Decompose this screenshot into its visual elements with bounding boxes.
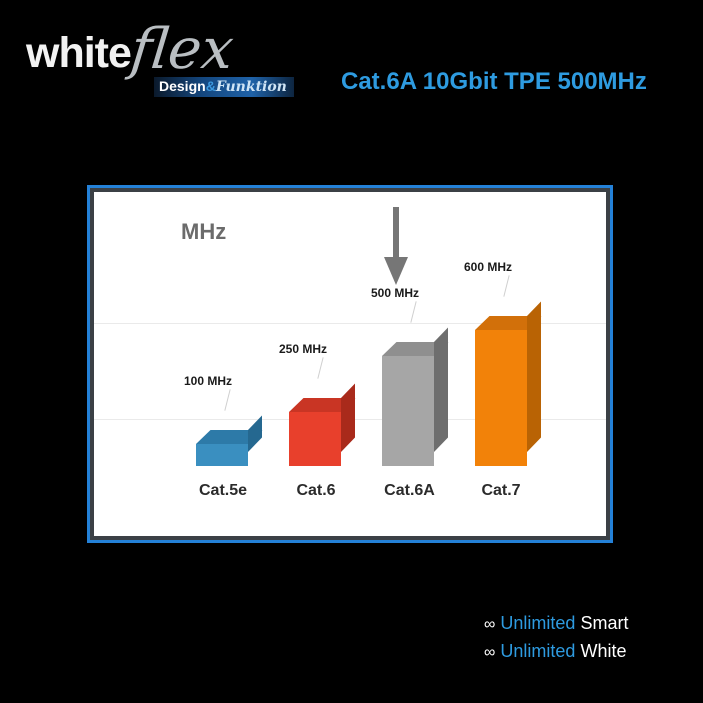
bar-front-face bbox=[289, 412, 341, 466]
bar-cat6a bbox=[382, 356, 434, 466]
bar-category-label-cat7: Cat.7 bbox=[457, 482, 545, 500]
bar-category-label-cat5e: Cat.5e bbox=[178, 482, 268, 500]
leader-line-cat6a bbox=[410, 301, 416, 323]
leader-line-cat6 bbox=[317, 357, 323, 379]
logo-text-white: white bbox=[26, 32, 131, 75]
chart-plot-area: MHz 100 MHz Cat.5e 250 MHz Cat.6 bbox=[94, 192, 606, 536]
bar-cat7 bbox=[475, 330, 527, 466]
bar-side-face bbox=[341, 384, 355, 452]
logo-tagline: Design&Funktion bbox=[154, 77, 294, 97]
bar-side-face bbox=[527, 302, 541, 452]
bar-value-label-cat6: 250 MHz bbox=[279, 342, 327, 356]
logo-tagline-funktion: Funktion bbox=[216, 79, 287, 95]
bar-value-label-cat5e: 100 MHz bbox=[184, 374, 232, 388]
infinity-icon: ∞ bbox=[484, 616, 495, 633]
infinity-icon: ∞ bbox=[484, 644, 495, 661]
bar-cat6 bbox=[289, 412, 341, 466]
logo-tagline-amp: & bbox=[206, 78, 216, 94]
brand-logo: white flex Design&Funktion bbox=[26, 26, 306, 102]
page-title: Cat.6A 10Gbit TPE 500MHz bbox=[341, 68, 647, 96]
bar-front-face bbox=[475, 330, 527, 466]
bar-value-label-cat6a: 500 MHz bbox=[371, 286, 419, 300]
leader-line-cat5e bbox=[224, 389, 230, 411]
footer-highlight-white: Unlimited bbox=[500, 641, 575, 661]
y-axis-title: MHz bbox=[181, 219, 226, 245]
bar-category-label-cat6: Cat.6 bbox=[271, 482, 361, 500]
bar-category-label-cat6a: Cat.6A bbox=[362, 482, 457, 500]
bar-value-label-cat7: 600 MHz bbox=[464, 260, 512, 274]
footer-word-white: White bbox=[580, 641, 626, 661]
bar-front-face bbox=[196, 444, 248, 466]
bar-front-face bbox=[382, 356, 434, 466]
bar-cat5e bbox=[196, 444, 248, 466]
logo-text-flex: flex bbox=[128, 22, 236, 78]
footer-taglines: ∞ Unlimited Smart ∞ Unlimited White bbox=[484, 610, 628, 666]
logo-tagline-design: Design bbox=[159, 78, 206, 94]
leader-line-cat7 bbox=[503, 275, 509, 297]
footer-line-white: ∞ Unlimited White bbox=[484, 638, 628, 666]
chart-frame: MHz 100 MHz Cat.5e 250 MHz Cat.6 bbox=[87, 185, 613, 543]
callout-arrow-icon bbox=[381, 207, 411, 285]
footer-word-smart: Smart bbox=[580, 613, 628, 633]
footer-line-smart: ∞ Unlimited Smart bbox=[484, 610, 628, 638]
bar-side-face bbox=[248, 416, 262, 452]
footer-highlight-smart: Unlimited bbox=[500, 613, 575, 633]
bar-side-face bbox=[434, 328, 448, 452]
